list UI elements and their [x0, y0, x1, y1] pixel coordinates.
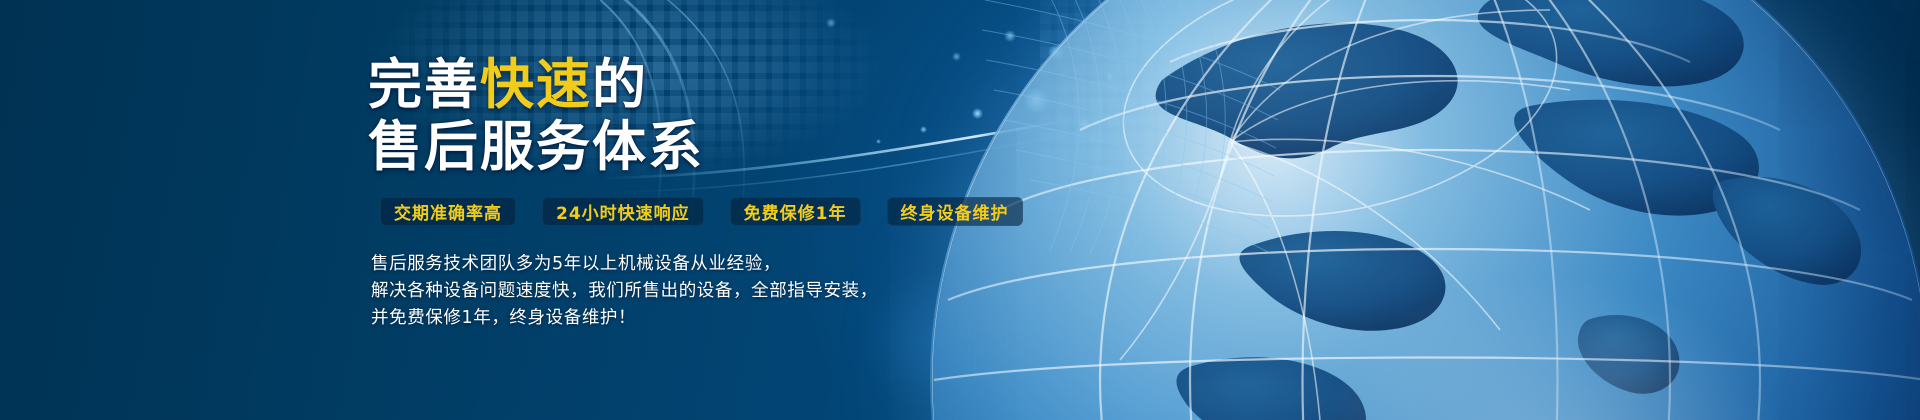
description-line: 并免费保修1年，终身设备维护！ — [371, 305, 1011, 332]
service-banner: 完善快速的 售后服务体系 交期准确率高 24小时快速响应 免费保修1年 终身设备… — [0, 0, 1920, 420]
dot-cluster — [1480, 0, 1640, 150]
feature-pill-delivery[interactable]: 交期准确率高 — [380, 197, 516, 226]
headline-line-1: 完善快速的 — [368, 56, 1128, 114]
longitude-lines — [1100, 0, 1760, 420]
headline-prefix: 完善 — [368, 53, 480, 116]
headline: 完善快速的 售后服务体系 — [368, 56, 1128, 176]
bokeh-blob — [1260, 0, 1380, 90]
headline-line-2: 售后服务体系 — [368, 118, 1128, 176]
feature-pill-list: 交期准确率高 24小时快速响应 免费保修1年 终身设备维护 — [380, 197, 1023, 226]
headline-accent: 快速 — [480, 53, 592, 116]
headline-suffix: 的 — [592, 53, 648, 116]
feature-pill-response[interactable]: 24小时快速响应 — [542, 197, 704, 226]
description-paragraph: 售后服务技术团队多为5年以上机械设备从业经验， 解决各种设备问题速度快，我们所售… — [371, 251, 1011, 332]
banner-content: 完善快速的 售后服务体系 交期准确率高 24小时快速响应 免费保修1年 终身设备… — [368, 0, 1188, 420]
feature-pill-warranty[interactable]: 免费保修1年 — [730, 197, 861, 226]
description-line: 解决各种设备问题速度快，我们所售出的设备，全部指导安装， — [371, 278, 1011, 305]
feature-pill-maintenance[interactable]: 终身设备维护 — [887, 197, 1023, 226]
description-line: 售后服务技术团队多为5年以上机械设备从业经验， — [371, 251, 1011, 278]
